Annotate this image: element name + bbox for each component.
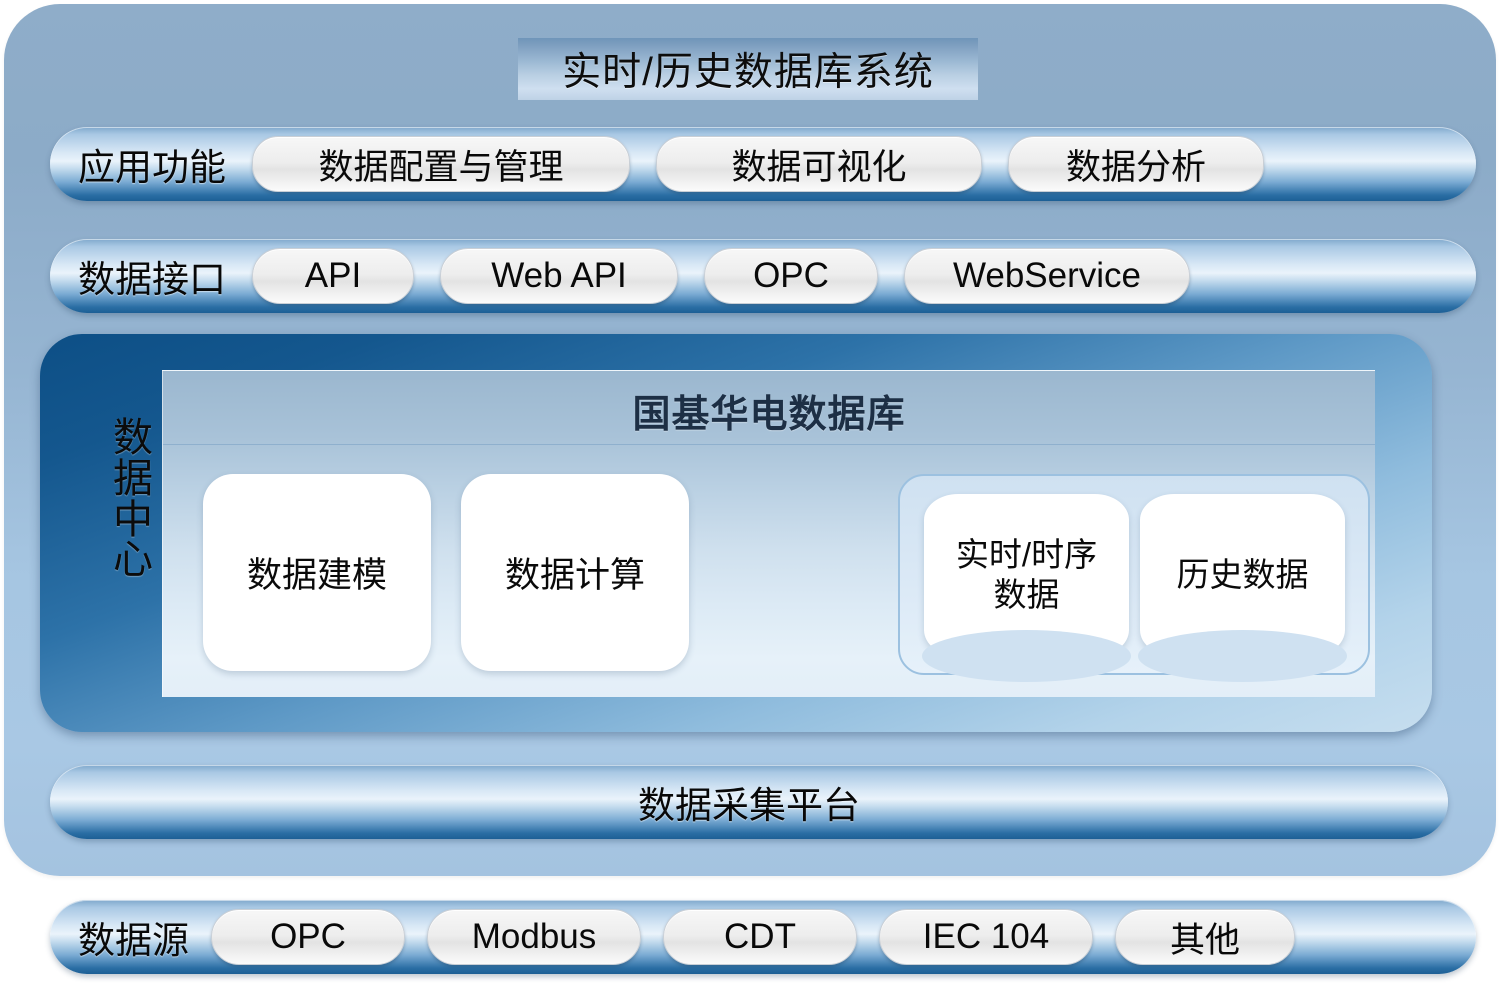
store-historical[interactable]: 历史数据 — [1140, 494, 1345, 656]
store-realtime-timeseries[interactable]: 实时/时序 数据 — [924, 494, 1129, 656]
datasource-item-other[interactable]: 其他 — [1115, 909, 1295, 965]
interface-item-web-api[interactable]: Web API — [440, 248, 678, 304]
app-item-data-config-label: 数据配置与管理 — [318, 139, 563, 190]
interface-item-opc[interactable]: OPC — [704, 248, 878, 304]
layer-label-collection: 数据采集平台 — [638, 775, 860, 829]
interface-item-webservice-label: WebService — [953, 256, 1141, 296]
interface-item-api-label: API — [305, 256, 361, 296]
store-realtime-timeseries-label: 实时/时序 数据 — [956, 535, 1097, 616]
datasource-item-cdt[interactable]: CDT — [663, 909, 857, 965]
app-item-data-visualization-label: 数据可视化 — [731, 139, 906, 190]
datasource-item-opc[interactable]: OPC — [211, 909, 405, 965]
database-product-panel: 国基华电数据库 数据建模 数据计算 实时/时序 数据 历史数据 — [162, 370, 1375, 697]
storage-group: 实时/时序 数据 历史数据 — [898, 474, 1370, 675]
module-data-modeling[interactable]: 数据建模 — [203, 474, 431, 671]
app-item-data-visualization[interactable]: 数据可视化 — [656, 136, 982, 192]
interface-item-api[interactable]: API — [252, 248, 414, 304]
system-title-text: 实时/历史数据库系统 — [562, 41, 934, 97]
layer-label-datasource: 数据源 — [78, 910, 189, 964]
app-item-data-analysis[interactable]: 数据分析 — [1008, 136, 1264, 192]
store-realtime-line1: 实时/时序 — [956, 536, 1097, 573]
datasource-item-cdt-label: CDT — [724, 917, 796, 957]
layer-data-center: 数据中心 国基华电数据库 数据建模 数据计算 实时/时序 数据 历史数据 — [40, 334, 1432, 732]
layer-application-functions: 应用功能 数据配置与管理 数据可视化 数据分析 — [50, 127, 1476, 201]
layer-label-interface: 数据接口 — [78, 249, 226, 303]
datasource-item-modbus[interactable]: Modbus — [427, 909, 641, 965]
layer-label-application: 应用功能 — [78, 137, 226, 191]
layer-data-collection-platform: 数据采集平台 — [50, 765, 1448, 839]
module-data-computation[interactable]: 数据计算 — [461, 474, 689, 671]
module-data-modeling-label: 数据建模 — [247, 547, 387, 598]
system-title-plate: 实时/历史数据库系统 — [518, 38, 978, 100]
datasource-item-other-label: 其他 — [1170, 912, 1240, 963]
interface-item-web-api-label: Web API — [491, 256, 627, 296]
panel-divider — [163, 444, 1375, 445]
layer-label-data-center: 数据中心 — [102, 418, 164, 581]
interface-item-webservice[interactable]: WebService — [904, 248, 1190, 304]
layer-data-source: 数据源 OPC Modbus CDT IEC 104 其他 — [50, 900, 1476, 974]
store-historical-line1: 历史数据 — [1177, 556, 1309, 593]
app-item-data-analysis-label: 数据分析 — [1066, 139, 1206, 190]
store-historical-label: 历史数据 — [1177, 555, 1309, 595]
interface-item-opc-label: OPC — [753, 256, 829, 296]
datasource-item-iec104-label: IEC 104 — [923, 917, 1049, 957]
app-item-data-config[interactable]: 数据配置与管理 — [252, 136, 630, 192]
store-realtime-line2: 数据 — [993, 576, 1059, 613]
datasource-item-iec104[interactable]: IEC 104 — [879, 909, 1093, 965]
datasource-item-opc-label: OPC — [270, 917, 346, 957]
datasource-item-modbus-label: Modbus — [472, 917, 597, 957]
module-data-computation-label: 数据计算 — [505, 547, 645, 598]
database-product-title: 国基华电数据库 — [163, 383, 1375, 438]
layer-data-interface: 数据接口 API Web API OPC WebService — [50, 239, 1476, 313]
